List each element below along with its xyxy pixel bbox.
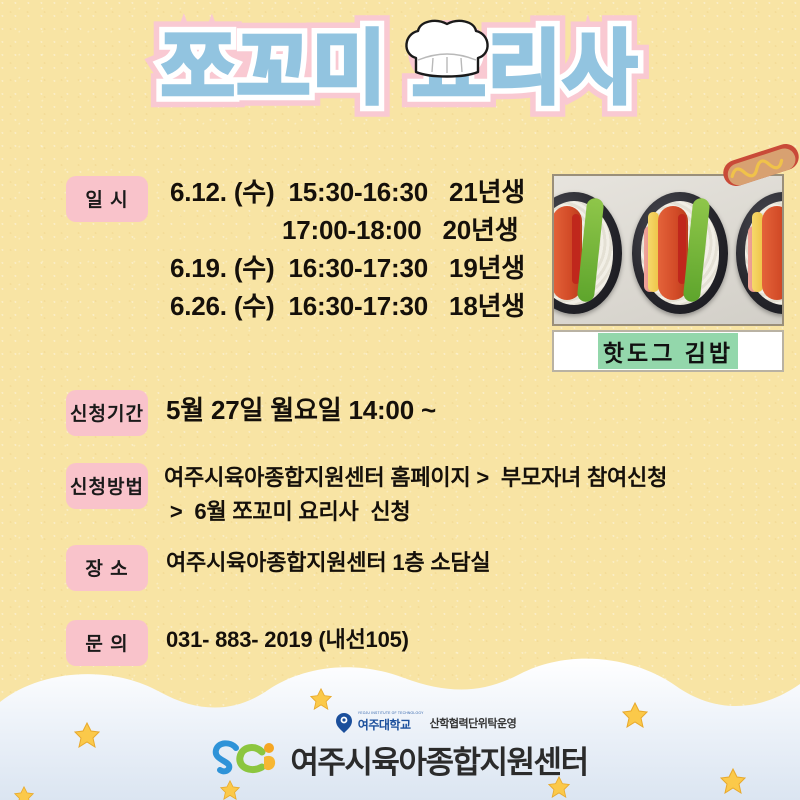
datetime-line-4: 6.26. (수) 16:30-17:30 18년생 bbox=[170, 287, 525, 325]
university-micro-text: YEOJU INSTITUTE OF TECHNOLOGY bbox=[358, 711, 424, 716]
label-datetime: 일 시 bbox=[66, 176, 148, 222]
star-icon bbox=[310, 688, 332, 710]
chef-hat-icon bbox=[398, 18, 496, 80]
poster-canvas: 쪼꼬미 요리사 쪼꼬미 요리사 쪼꼬미 요리사 일 시 6.12. (수) 15… bbox=[0, 0, 800, 800]
university-text-group: YEOJU INSTITUTE OF TECHNOLOGY 여주대학교 bbox=[358, 711, 424, 734]
row-application-method: 신청방법 여주시육아종합지원센터 홈페이지 > 부모자녀 참여신청 > 6월 쪼… bbox=[66, 463, 667, 529]
value-datetime: 6.12. (수) 15:30-16:30 21년생 17:00-18:00 2… bbox=[170, 173, 525, 325]
place-line-1: 여주시육아종합지원센터 1층 소담실 bbox=[166, 546, 490, 580]
poster-footer: YEOJU INSTITUTE OF TECHNOLOGY 여주대학교 산학협력… bbox=[0, 640, 800, 800]
value-application-method: 여주시육아종합지원센터 홈페이지 > 부모자녀 참여신청 > 6월 쪼꼬미 요리… bbox=[164, 461, 667, 529]
university-credit: YEOJU INSTITUTE OF TECHNOLOGY 여주대학교 산학협력… bbox=[336, 711, 516, 734]
poster-title-area: 쪼꼬미 요리사 쪼꼬미 요리사 쪼꼬미 요리사 bbox=[0, 14, 800, 134]
hotdog-icon bbox=[716, 136, 800, 194]
method-line-2: > 6월 쪼꼬미 요리사 신청 bbox=[164, 495, 667, 529]
center-branding: 여주시육아종합지원센터 bbox=[212, 737, 587, 782]
star-icon bbox=[14, 786, 34, 800]
period-line-1: 5월 27일 월요일 14:00 ~ bbox=[166, 391, 436, 429]
datetime-line-1: 6.12. (수) 15:30-16:30 21년생 bbox=[170, 173, 525, 211]
value-application-period: 5월 27일 월요일 14:00 ~ bbox=[166, 391, 436, 429]
center-name: 여주시육아종합지원센터 bbox=[290, 737, 587, 782]
row-place: 장 소 여주시육아종합지원센터 1층 소담실 bbox=[66, 545, 490, 591]
label-place: 장 소 bbox=[66, 545, 148, 591]
photo-caption: 핫도그 김밥 bbox=[598, 333, 738, 369]
photo-caption-box: 핫도그 김밥 bbox=[552, 330, 784, 372]
value-place: 여주시육아종합지원센터 1층 소담실 bbox=[166, 546, 490, 580]
footer-logo-block: YEOJU INSTITUTE OF TECHNOLOGY 여주대학교 산학협력… bbox=[0, 711, 800, 782]
method-line-1: 여주시육아종합지원센터 홈페이지 > 부모자녀 참여신청 bbox=[164, 461, 667, 495]
label-application-period: 신청기간 bbox=[66, 390, 148, 436]
kimbap-roll bbox=[632, 192, 728, 314]
star-icon bbox=[220, 780, 240, 800]
food-photo bbox=[552, 174, 784, 326]
university-subtitle: 산학협력단위탁운영 bbox=[430, 715, 517, 731]
datetime-line-3: 6.19. (수) 16:30-17:30 19년생 bbox=[170, 249, 525, 287]
food-photo-card: 핫도그 김밥 bbox=[552, 174, 788, 374]
sc-logo-icon bbox=[212, 739, 280, 781]
university-name: 여주대학교 bbox=[358, 718, 411, 732]
row-application-period: 신청기간 5월 27일 월요일 14:00 ~ bbox=[66, 390, 436, 436]
row-datetime: 일 시 6.12. (수) 15:30-16:30 21년생 17:00-18:… bbox=[66, 176, 525, 325]
datetime-line-2: 17:00-18:00 20년생 bbox=[170, 211, 525, 249]
label-application-method: 신청방법 bbox=[66, 463, 148, 509]
university-shield-icon bbox=[336, 713, 352, 733]
